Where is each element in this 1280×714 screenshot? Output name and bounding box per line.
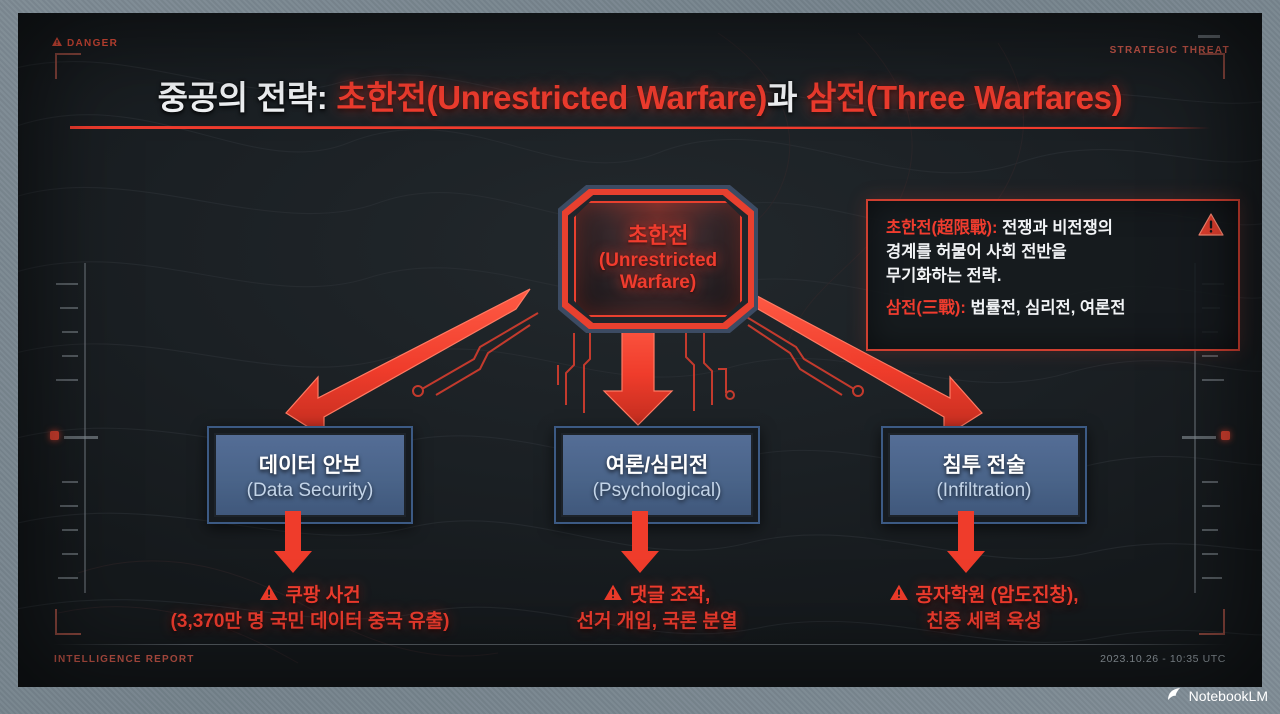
notebooklm-logo-icon [1166,686,1183,706]
footer-timestamp: 2023.10.26 - 10:35 UTC [1100,653,1226,665]
title-segment-1: 중공의 전략: [158,79,337,116]
caption-data-security: 쿠팡 사건 (3,370만 명 국민 데이터 중국 유출) [171,583,450,634]
info-line-1: 초한전(超限戰): 전쟁과 비전쟁의 [886,216,1220,240]
title-segment-3: 과 [767,79,806,116]
header-tick-mark [1198,35,1220,38]
branch-label-english: (Data Security) [247,480,374,502]
danger-badge: DANGER [52,37,118,49]
slide-frame: DANGER STRATEGIC THREAT 중공의 전략: 초한전(Unre… [0,0,1280,714]
info-term-1-line-1: 전쟁과 비전쟁의 [998,219,1113,237]
title-segment-4: 삼전(Three Warfares) [806,79,1122,116]
info-term-2-label: 삼전(三戰): [886,299,966,317]
slide-panel: DANGER STRATEGIC THREAT 중공의 전략: 초한전(Unre… [18,13,1262,687]
footer-divider [53,644,1227,645]
branch-label-english: (Psychological) [593,480,722,502]
caption-line-2: (3,370만 명 국민 데이터 중국 유출) [171,609,450,635]
caption-line-1: 댓글 조작, [630,583,710,609]
info-term-2-text: 법률전, 심리전, 여론전 [966,299,1126,317]
corner-bracket-bottom-right [1199,609,1225,635]
branch-label-korean: 데이터 안보 [259,449,361,479]
warning-triangle-icon [259,583,278,609]
warning-triangle-icon [604,583,623,609]
branch-box-data-security[interactable]: 데이터 안보 (Data Security) [207,426,413,524]
caption-infiltration: 공자학원 (암도진창), 친중 세력 육성 [889,583,1078,634]
definition-info-box: 초한전(超限戰): 전쟁과 비전쟁의 경계를 허물어 사회 전반을 무기화하는 … [866,199,1240,351]
caption-line-1: 쿠팡 사건 [285,583,360,609]
caption-psychological: 댓글 조작, 선거 개입, 국론 분열 [577,583,738,634]
caption-line-2: 친중 세력 육성 [889,609,1078,635]
warning-triangle-icon [889,583,908,609]
branch-label-korean: 여론/심리전 [606,449,708,479]
warning-triangle-icon [1198,213,1224,241]
title-segment-2: 초한전(Unrestricted Warfare) [336,79,767,116]
branch-label-english: (Infiltration) [936,480,1031,502]
node-label-english-2: Warfare) [620,272,696,293]
left-ruler-decoration [42,263,102,593]
info-term-1-line-3: 무기화하는 전략. [886,264,1220,288]
branch-box-infiltration[interactable]: 침투 전술 (Infiltration) [881,426,1087,524]
info-term-1-line-2: 경계를 허물어 사회 전반을 [886,240,1220,264]
corner-bracket-bottom-left [55,609,81,635]
node-label-english-1: (Unrestricted [599,250,717,271]
notebooklm-label: NotebookLM [1189,688,1268,704]
caption-line-1: 공자학원 (암도진창), [915,583,1078,609]
page-title: 중공의 전략: 초한전(Unrestricted Warfare)과 삼전(Th… [18,71,1262,119]
info-line-4: 삼전(三戰): 법률전, 심리전, 여론전 [886,296,1220,320]
branch-box-psychological[interactable]: 여론/심리전 (Psychological) [554,426,760,524]
branch-label-korean: 침투 전술 [942,449,1025,479]
node-label: 초한전 (Unrestricted Warfare) [558,185,758,333]
info-term-1-label: 초한전(超限戰): [886,219,998,237]
danger-label: DANGER [67,38,118,49]
warning-triangle-icon [52,37,62,49]
notebooklm-badge: NotebookLM [1166,686,1268,706]
footer-report-label: INTELLIGENCE REPORT [54,654,195,665]
caption-line-2: 선거 개입, 국론 분열 [577,609,738,635]
node-label-korean: 초한전 [628,224,689,249]
central-node-unrestricted-warfare[interactable]: 초한전 (Unrestricted Warfare) [558,185,758,333]
